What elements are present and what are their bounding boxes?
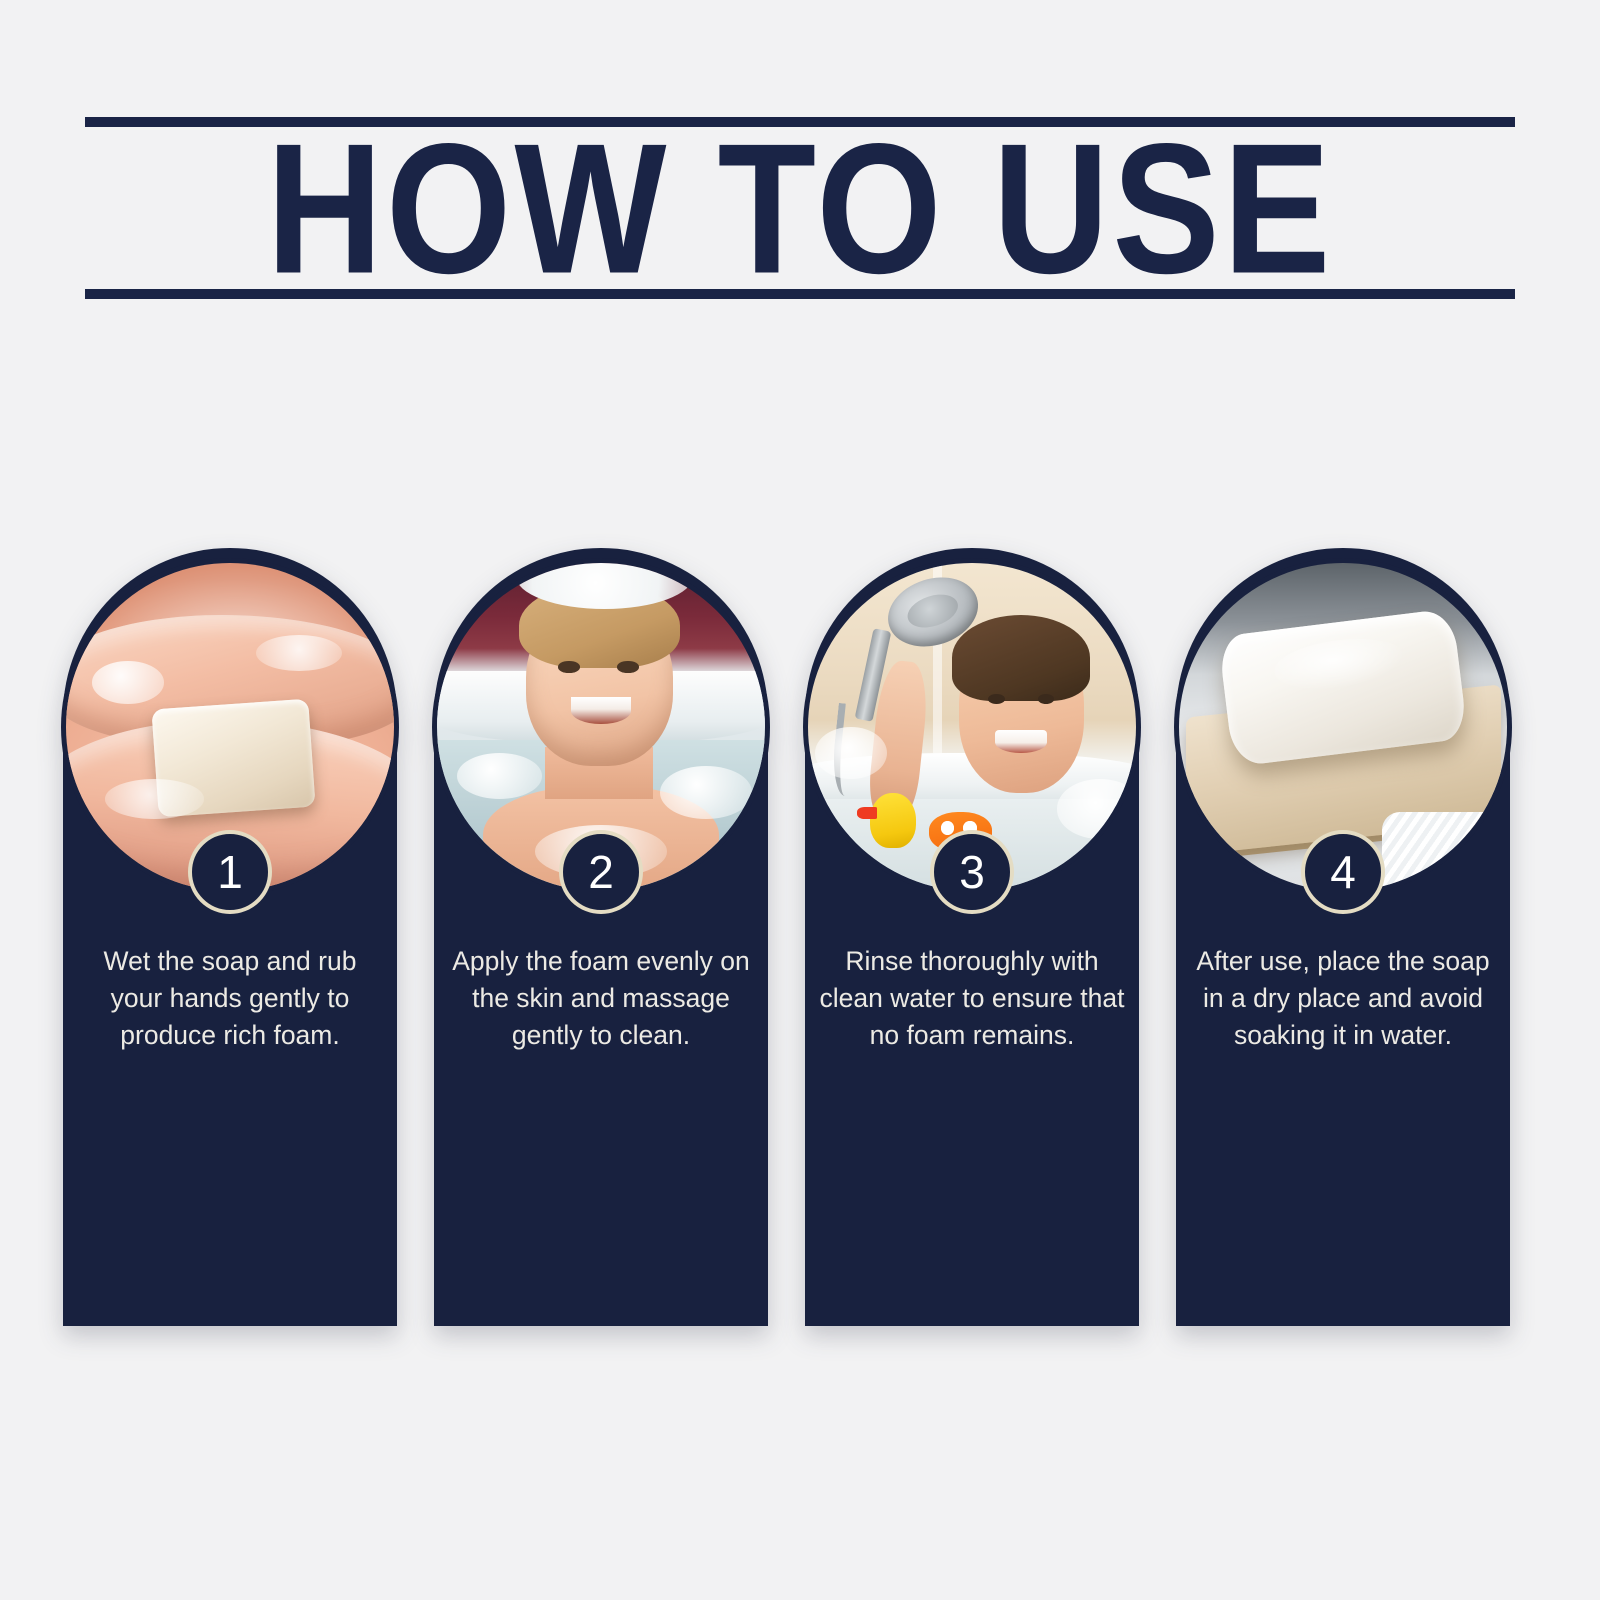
steps-row: 1 Wet the soap and rub your hands gently… bbox=[0, 548, 1600, 1348]
header: HOW TO USE bbox=[85, 117, 1515, 299]
page-title: HOW TO USE bbox=[42, 99, 1558, 319]
step-card-4: 4 After use, place the soap in a dry pla… bbox=[1176, 548, 1510, 1326]
step-number-badge: 3 bbox=[930, 830, 1014, 914]
step-caption: Rinse thoroughly with clean water to ens… bbox=[819, 943, 1125, 1054]
step-card-3: 3 Rinse thoroughly with clean water to e… bbox=[805, 548, 1139, 1326]
step-number-badge: 1 bbox=[188, 830, 272, 914]
title-rule-bottom bbox=[85, 289, 1515, 299]
step-number-badge: 2 bbox=[559, 830, 643, 914]
step-card-1: 1 Wet the soap and rub your hands gently… bbox=[63, 548, 397, 1326]
infographic-canvas: HOW TO USE 1 Wet the soap and rub your h… bbox=[0, 0, 1600, 1600]
step-caption: Apply the foam evenly on the skin and ma… bbox=[448, 943, 754, 1054]
step-caption: Wet the soap and rub your hands gently t… bbox=[77, 943, 383, 1054]
step-card-2: 2 Apply the foam evenly on the skin and … bbox=[434, 548, 768, 1326]
step-number-badge: 4 bbox=[1301, 830, 1385, 914]
step-caption: After use, place the soap in a dry place… bbox=[1190, 943, 1496, 1054]
